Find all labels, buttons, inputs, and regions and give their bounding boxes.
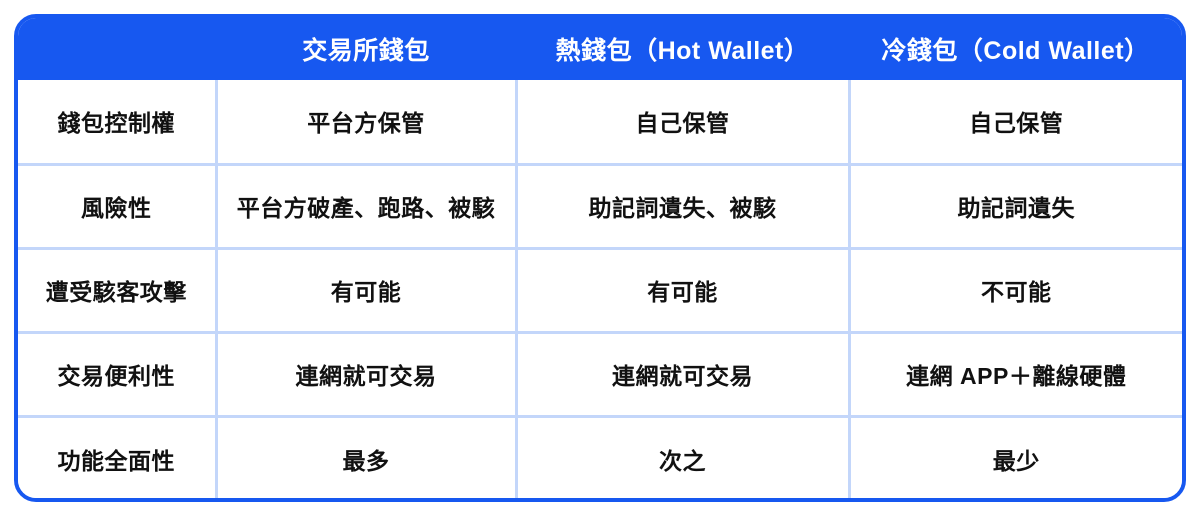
cell-exchange-wallet-control: 平台方保管 [216,80,516,164]
table-header: 交易所錢包 熱錢包（Hot Wallet） 冷錢包（Cold Wallet） [18,18,1182,80]
row-label-wallet-control: 錢包控制權 [18,80,216,164]
cell-cold-feature-coverage: 最少 [849,416,1182,500]
table-row: 遭受駭客攻擊 有可能 有可能 不可能 [18,248,1182,332]
wallet-comparison-table: 交易所錢包 熱錢包（Hot Wallet） 冷錢包（Cold Wallet） 錢… [14,14,1186,502]
cell-cold-trade-convenience: 連網 APP＋離線硬體 [849,332,1182,416]
header-row: 交易所錢包 熱錢包（Hot Wallet） 冷錢包（Cold Wallet） [18,18,1182,80]
cell-hot-wallet-control: 自己保管 [516,80,849,164]
table-row: 功能全面性 最多 次之 最少 [18,416,1182,500]
comparison-table: 交易所錢包 熱錢包（Hot Wallet） 冷錢包（Cold Wallet） 錢… [18,18,1182,500]
header-exchange-wallet: 交易所錢包 [216,18,516,80]
cell-exchange-trade-convenience: 連網就可交易 [216,332,516,416]
table-row: 交易便利性 連網就可交易 連網就可交易 連網 APP＋離線硬體 [18,332,1182,416]
table-row: 風險性 平台方破產、跑路、被駭 助記詞遺失、被駭 助記詞遺失 [18,164,1182,248]
cell-hot-hacker-attack: 有可能 [516,248,849,332]
row-label-trade-convenience: 交易便利性 [18,332,216,416]
cell-hot-trade-convenience: 連網就可交易 [516,332,849,416]
cell-hot-feature-coverage: 次之 [516,416,849,500]
header-corner-cell [18,18,216,80]
cell-exchange-feature-coverage: 最多 [216,416,516,500]
table-body: 錢包控制權 平台方保管 自己保管 自己保管 風險性 平台方破產、跑路、被駭 助記… [18,80,1182,500]
cell-cold-hacker-attack: 不可能 [849,248,1182,332]
header-hot-wallet: 熱錢包（Hot Wallet） [516,18,849,80]
row-label-hacker-attack: 遭受駭客攻擊 [18,248,216,332]
row-label-feature-coverage: 功能全面性 [18,416,216,500]
table-row: 錢包控制權 平台方保管 自己保管 自己保管 [18,80,1182,164]
cell-cold-wallet-control: 自己保管 [849,80,1182,164]
cell-exchange-risk: 平台方破產、跑路、被駭 [216,164,516,248]
header-cold-wallet: 冷錢包（Cold Wallet） [849,18,1182,80]
cell-cold-risk: 助記詞遺失 [849,164,1182,248]
cell-exchange-hacker-attack: 有可能 [216,248,516,332]
cell-hot-risk: 助記詞遺失、被駭 [516,164,849,248]
row-label-risk: 風險性 [18,164,216,248]
